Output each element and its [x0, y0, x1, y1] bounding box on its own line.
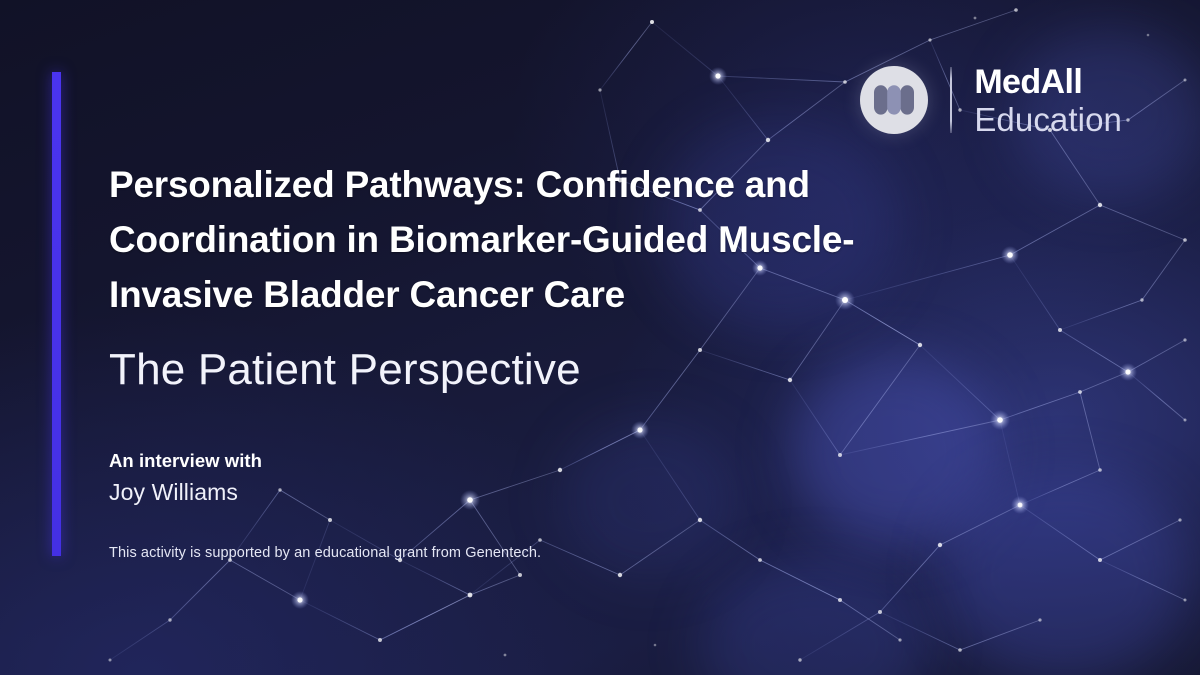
- title-slide: MedAll Education Personalized Pathways: …: [0, 0, 1200, 675]
- page-title: Personalized Pathways: Confidence and Co…: [109, 0, 887, 322]
- brand-sub: Education: [974, 103, 1122, 136]
- background-glow-5: [700, 560, 930, 675]
- content-block: Personalized Pathways: Confidence and Co…: [109, 0, 899, 563]
- page-subtitle: The Patient Perspective: [109, 322, 899, 397]
- vertical-divider-icon: [950, 67, 952, 133]
- brand-name: MedAll: [974, 65, 1122, 99]
- interview-name: Joy Williams: [109, 474, 899, 507]
- brand-lockup: MedAll Education: [860, 55, 1122, 145]
- brand-text: MedAll Education: [974, 65, 1122, 136]
- funding-statement: This activity is supported by an educati…: [109, 507, 899, 563]
- interview-label: An interview with: [109, 397, 899, 474]
- background-glow-2: [940, 470, 1190, 675]
- left-accent-bar: [52, 72, 61, 556]
